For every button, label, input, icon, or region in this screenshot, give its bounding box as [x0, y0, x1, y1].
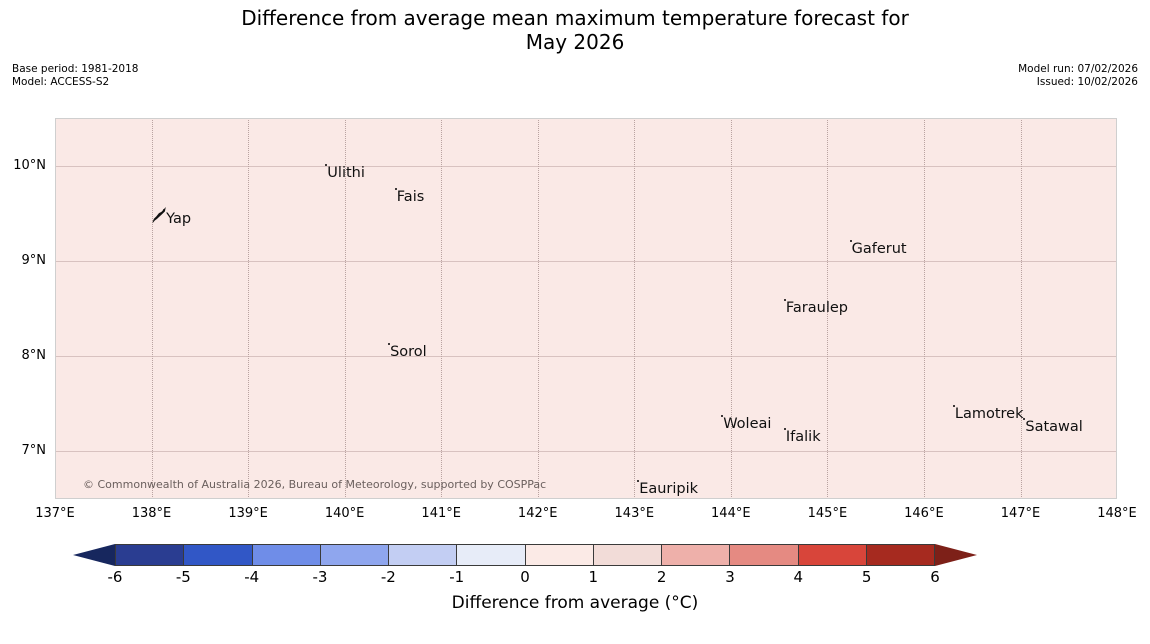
x-tick-label: 147°E: [1001, 506, 1041, 522]
colorbar-tick-label: -3: [313, 568, 328, 586]
colorbar-segment-3: [321, 545, 389, 565]
colorbar-segment-2: [253, 545, 321, 565]
colorbar-tick-label: 0: [520, 568, 530, 586]
y-tick-label: 8°N: [46, 348, 71, 364]
y-tick-label: 7°N: [46, 443, 71, 459]
colorbar-segment-8: [662, 545, 730, 565]
gridline-lat-8: [55, 356, 1117, 357]
x-tick-label: 139°E: [228, 506, 268, 522]
place-label: Gaferut: [852, 241, 907, 258]
colorbar-tick-label: -4: [244, 568, 259, 586]
map-canvas: YapUlithiFaisSorolGaferutFaraulepWoleaiI…: [55, 118, 1117, 499]
place-label: Ifalik: [786, 429, 821, 446]
gridline-lat-9: [55, 261, 1117, 262]
x-tick-label: 146°E: [904, 506, 944, 522]
colorbar-segment-1: [184, 545, 252, 565]
colorbar-tick-label: -5: [176, 568, 191, 586]
x-tick-label: 137°E: [35, 506, 75, 522]
colorbar-segment-9: [730, 545, 798, 565]
metadata-right: Model run: 07/02/2026 Issued: 10/02/2026: [1018, 63, 1138, 89]
map-plot-area[interactable]: YapUlithiFaisSorolGaferutFaraulepWoleaiI…: [55, 118, 1117, 499]
page-title: Difference from average mean maximum tem…: [0, 6, 1150, 54]
x-tick-label: 145°E: [808, 506, 848, 522]
gridline-lat-10: [55, 166, 1117, 167]
colorbar-tick-label: -1: [449, 568, 464, 586]
colorbar-extend-high-arrow: [935, 544, 977, 566]
gridline-lon-144: [731, 118, 733, 499]
base-period-text: Base period: 1981-2018: [12, 63, 138, 76]
gridline-lon-142: [538, 118, 540, 499]
x-tick-label: 144°E: [711, 506, 751, 522]
place-label: Lamotrek: [955, 406, 1024, 423]
place-label: Fais: [397, 189, 424, 206]
gridline-lon-141: [441, 118, 443, 499]
colorbar-tick-label: 4: [794, 568, 804, 586]
colorbar-segment-0: [116, 545, 184, 565]
place-label: Sorol: [390, 344, 427, 361]
y-tick-label-text: 9°N: [22, 253, 47, 269]
colorbar-tick-label: 6: [930, 568, 940, 586]
gridline-lon-139: [248, 118, 250, 499]
colorbar[interactable]: [115, 544, 935, 566]
metadata-left: Base period: 1981-2018 Model: ACCESS-S2: [12, 63, 138, 89]
gridline-lon-147: [1021, 118, 1023, 499]
gridline-lon-138: [152, 118, 154, 499]
colorbar-tick-label: -6: [108, 568, 123, 586]
colorbar-tick-label: 3: [725, 568, 735, 586]
place-label: Yap: [166, 211, 191, 228]
model-run-text: Model run: 07/02/2026: [1018, 63, 1138, 76]
colorbar-tick-label: 2: [657, 568, 667, 586]
coastline-segment: [1116, 261, 1117, 499]
y-tick-label: 9°N: [46, 253, 71, 269]
place-label: Ulithi: [327, 165, 365, 182]
issued-text: Issued: 10/02/2026: [1018, 76, 1138, 89]
colorbar-segment-7: [594, 545, 662, 565]
gridline-lat-7: [55, 451, 1117, 452]
place-label: Faraulep: [786, 300, 848, 317]
place-label: Eauripik: [639, 481, 698, 498]
colorbar-tick-label: 5: [862, 568, 872, 586]
colorbar-segment-4: [389, 545, 457, 565]
colorbar-segment-6: [526, 545, 594, 565]
gridline-lon-146: [924, 118, 926, 499]
colorbar-tick-label: -2: [381, 568, 396, 586]
x-tick-label: 148°E: [1097, 506, 1137, 522]
place-label: Woleai: [723, 416, 771, 433]
x-tick-label: 138°E: [132, 506, 172, 522]
colorbar-segments: [115, 544, 935, 566]
colorbar-segment-5: [457, 545, 525, 565]
copyright-text: © Commonwealth of Australia 2026, Bureau…: [83, 478, 546, 491]
colorbar-segment-11: [867, 545, 934, 565]
x-tick-label: 140°E: [325, 506, 365, 522]
y-tick-label-text: 7°N: [22, 443, 47, 459]
y-tick-label: 10°N: [46, 158, 79, 174]
colorbar-tick-label: 1: [589, 568, 599, 586]
model-text: Model: ACCESS-S2: [12, 76, 138, 89]
colorbar-axis-label: Difference from average (°C): [0, 592, 1150, 614]
place-label: Satawal: [1025, 419, 1082, 436]
x-tick-label: 142°E: [518, 506, 558, 522]
colorbar-extend-low-arrow: [73, 544, 115, 566]
x-tick-label: 143°E: [615, 506, 655, 522]
y-tick-label-text: 8°N: [22, 348, 47, 364]
y-tick-label-text: 10°N: [13, 158, 46, 174]
colorbar-segment-10: [799, 545, 867, 565]
gridline-lon-143: [634, 118, 636, 499]
x-tick-label: 141°E: [421, 506, 461, 522]
